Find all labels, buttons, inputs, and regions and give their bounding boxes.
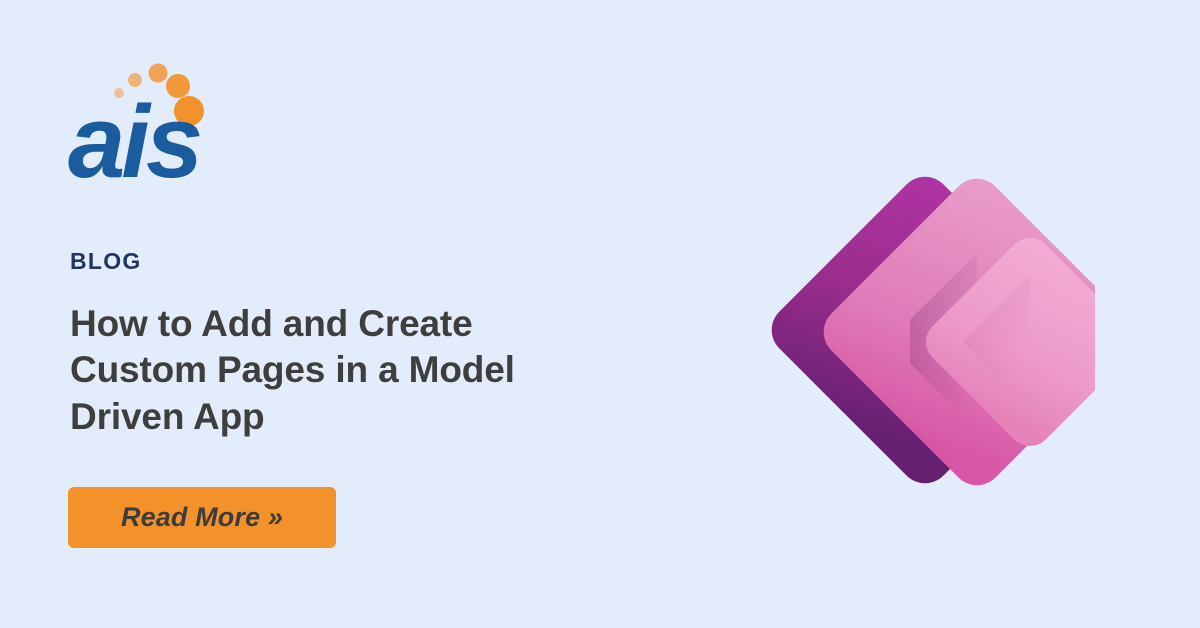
power-apps-logo bbox=[735, 150, 1095, 510]
ais-logo-dot-3 bbox=[149, 64, 168, 83]
social-card: ais BLOG How to Add and Create Custom Pa… bbox=[0, 0, 1200, 628]
ais-logo-svg: ais bbox=[68, 55, 308, 195]
ais-logo: ais bbox=[68, 55, 308, 195]
ais-logo-wordmark: ais bbox=[68, 84, 200, 195]
page-title: How to Add and Create Custom Pages in a … bbox=[70, 301, 610, 440]
eyebrow-label: BLOG bbox=[70, 250, 142, 273]
read-more-button[interactable]: Read More » bbox=[68, 487, 336, 548]
content-column: ais BLOG How to Add and Create Custom Pa… bbox=[68, 0, 668, 628]
power-apps-logo-svg bbox=[735, 150, 1095, 510]
read-more-label: Read More » bbox=[121, 502, 283, 533]
